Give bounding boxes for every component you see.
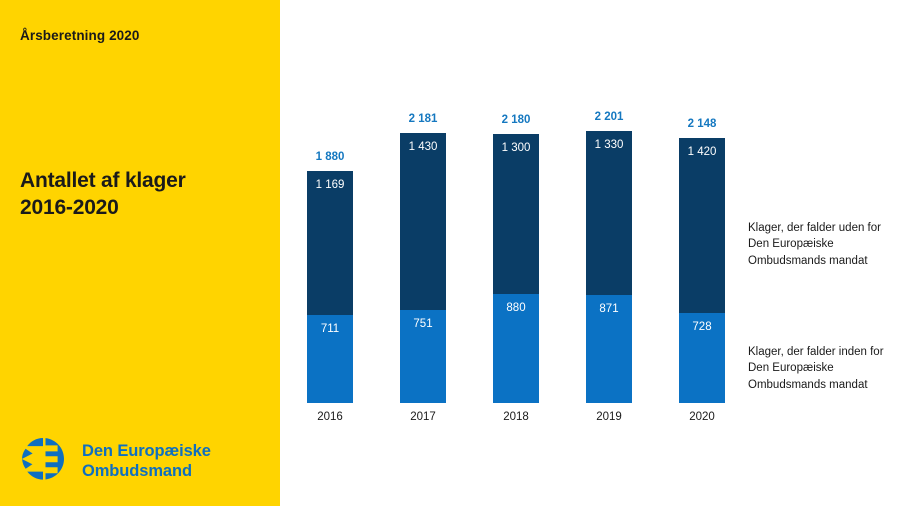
bar-segment-outside-mandate[interactable]: 1 420 [679, 138, 725, 313]
logo: Den Europæiske Ombudsmand [16, 434, 211, 488]
bar-segment-inside-mandate[interactable]: 880 [493, 294, 539, 403]
bar-segment-outside-mandate[interactable]: 1 430 [400, 133, 446, 310]
axis-tick-label-2016: 2016 [317, 411, 343, 423]
bar-segment-label: 711 [307, 323, 353, 335]
bar-stack[interactable]: 1 300880 [493, 134, 539, 403]
infographic-page: Årsberetning 2020 Antallet af klager 201… [0, 0, 900, 506]
bar-segment-inside-mandate[interactable]: 871 [586, 295, 632, 403]
bar-stack[interactable]: 1 330871 [586, 131, 632, 403]
legend-outside-mandate: Klager, der falder uden for Den Europæis… [748, 220, 898, 269]
bar-total-label: 2 180 [502, 114, 531, 126]
bar-segment-label: 1 169 [307, 179, 353, 191]
legend-inside-mandate: Klager, der falder inden for Den Europæi… [748, 344, 898, 393]
axis-tick-label-2017: 2017 [410, 411, 436, 423]
bar-segment-inside-mandate[interactable]: 751 [400, 310, 446, 403]
bar-segment-label: 871 [586, 303, 632, 315]
bar-segment-outside-mandate[interactable]: 1 300 [493, 134, 539, 295]
bar-stack[interactable]: 1 169711 [307, 171, 353, 403]
axis-tick-label-2020: 2020 [689, 411, 715, 423]
bar-segment-outside-mandate[interactable]: 1 169 [307, 171, 353, 315]
axis-tick-label-2019: 2019 [596, 411, 622, 423]
bar-total-label: 2 148 [688, 118, 717, 130]
bar-segment-label: 880 [493, 302, 539, 314]
bar-segment-inside-mandate[interactable]: 711 [307, 315, 353, 403]
bar-segment-outside-mandate[interactable]: 1 330 [586, 131, 632, 295]
page-title-line1: Antallet af klager [20, 169, 186, 192]
logo-text-line2: Ombudsmand [82, 461, 211, 481]
sidebar-panel: Årsberetning 2020 Antallet af klager 201… [0, 0, 280, 506]
chart-area: 1 8801 16971120162 1811 43075120172 1801… [280, 0, 900, 506]
bar-segment-label: 1 420 [679, 146, 725, 158]
bar-segment-label: 751 [400, 318, 446, 330]
bar-total-label: 2 181 [409, 113, 438, 125]
bar-total-label: 2 201 [595, 111, 624, 123]
logo-text: Den Europæiske Ombudsmand [82, 441, 211, 482]
bar-segment-label: 1 300 [493, 142, 539, 154]
eu-ombudsman-globe-icon [16, 434, 70, 488]
axis-tick-label-2018: 2018 [503, 411, 529, 423]
bar-total-label: 1 880 [316, 151, 345, 163]
report-label: Årsberetning 2020 [20, 28, 140, 43]
bar-segment-inside-mandate[interactable]: 728 [679, 313, 725, 403]
logo-text-line1: Den Europæiske [82, 441, 211, 461]
bar-stack[interactable]: 1 430751 [400, 133, 446, 403]
bar-segment-label: 1 330 [586, 139, 632, 151]
bar-stack[interactable]: 1 420728 [679, 138, 725, 403]
page-title-line2: 2016-2020 [20, 195, 186, 222]
page-title: Antallet af klager 2016-2020 [20, 168, 186, 222]
bar-segment-label: 1 430 [400, 141, 446, 153]
bar-segment-label: 728 [679, 321, 725, 333]
